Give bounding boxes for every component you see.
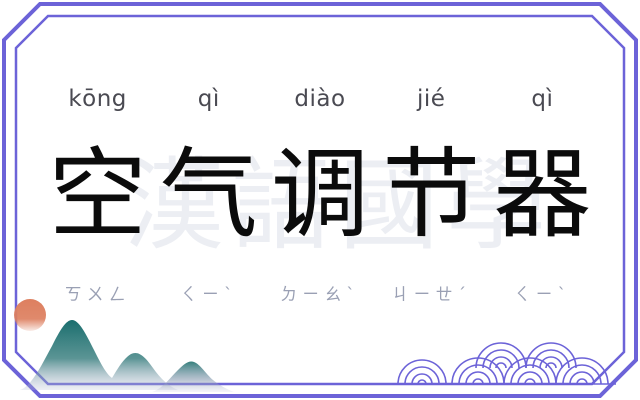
wave-arc — [526, 343, 576, 368]
zhuyin-syllable: ㄎㄨㄥ — [42, 280, 153, 305]
zhuyin-syllable: ㄑㄧˋ — [153, 280, 264, 305]
wave-arc — [504, 358, 556, 384]
headword-char: 节 — [376, 140, 487, 250]
zhuyin-syllable: ㄉㄧㄠˋ — [264, 280, 375, 305]
pinyin-syllable: jié — [376, 86, 487, 112]
mountain-small — [152, 361, 234, 392]
wave-arc — [452, 358, 504, 384]
wave-arc — [398, 360, 446, 384]
headword-row: 空 气 调 节 器 — [42, 140, 598, 250]
wave-arc — [476, 343, 526, 368]
wave-decoration — [392, 312, 622, 392]
word-card: 漢 語 國 學 kōng qì diào jié qì 空 气 调 节 器 ㄎㄨ… — [0, 0, 640, 400]
mountain-decoration — [0, 290, 340, 400]
pinyin-syllable: diào — [264, 86, 375, 112]
headword-char: 气 — [153, 140, 264, 250]
wave-arc — [556, 358, 608, 384]
mountain-large — [20, 320, 178, 390]
pinyin-syllable: qì — [153, 86, 264, 112]
zhuyin-syllable: ㄐㄧㄝˊ — [376, 280, 487, 305]
pinyin-row: kōng qì diào jié qì — [42, 86, 598, 112]
zhuyin-row: ㄎㄨㄥ ㄑㄧˋ ㄉㄧㄠˋ ㄐㄧㄝˊ ㄑㄧˋ — [42, 280, 598, 305]
zhuyin-syllable: ㄑㄧˋ — [487, 280, 598, 305]
pinyin-syllable: kōng — [42, 86, 153, 112]
headword-char: 器 — [487, 140, 598, 250]
headword-char: 空 — [42, 140, 153, 250]
pinyin-syllable: qì — [487, 86, 598, 112]
headword-char: 调 — [264, 140, 375, 250]
